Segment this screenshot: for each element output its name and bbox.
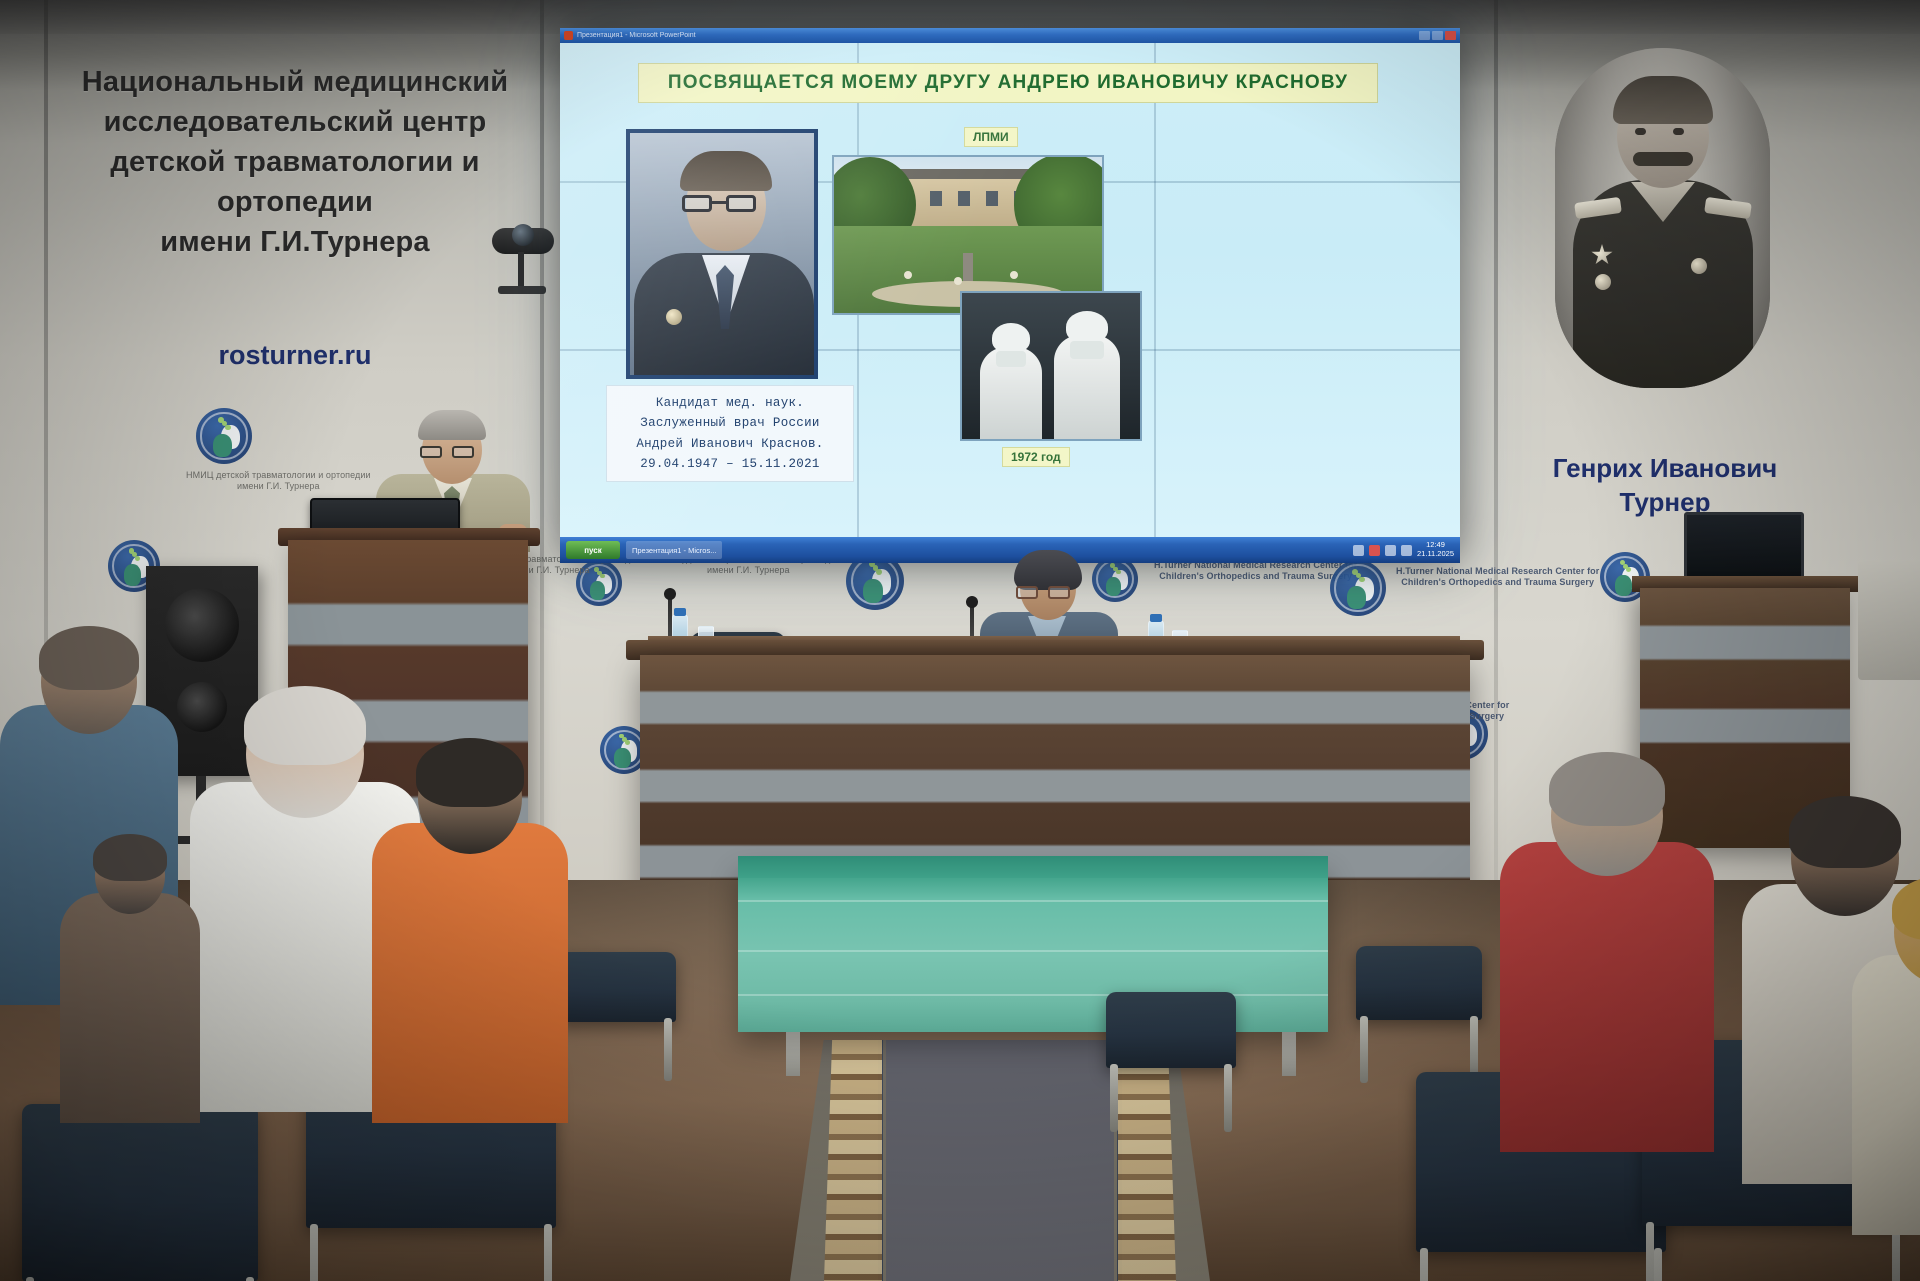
system-tray[interactable]: 12:49 21.11.2025 bbox=[1353, 541, 1454, 558]
photo-flowerbed bbox=[904, 271, 912, 279]
moderator-glasses bbox=[1048, 586, 1070, 599]
projection-screen[interactable]: Презентация1 - Microsoft PowerPoint ПОСВ… bbox=[560, 28, 1460, 563]
audience-member-torso bbox=[372, 823, 568, 1123]
logo-watermark-text: НМИЦ детской травматологии и ортопедииим… bbox=[186, 470, 371, 493]
draped-bench bbox=[738, 862, 1328, 1032]
caption-line-1: Кандидат мед. наук. bbox=[613, 393, 847, 413]
photo-surgical-cap bbox=[1066, 311, 1108, 343]
volume-icon[interactable] bbox=[1401, 545, 1412, 556]
logo-text-line-2: Children's Orthopedics and Trauma Surger… bbox=[1154, 571, 1357, 582]
drape-fold bbox=[738, 994, 1328, 996]
camera-mount-base bbox=[498, 286, 546, 294]
chair-leg bbox=[310, 1224, 318, 1281]
taskbar-clock[interactable]: 12:49 21.11.2025 bbox=[1417, 541, 1454, 558]
photo-window bbox=[958, 191, 970, 206]
clock-date: 21.11.2025 bbox=[1417, 549, 1454, 558]
carpet-field bbox=[886, 1040, 1114, 1281]
logo-sprout bbox=[1359, 577, 1365, 583]
network-icon[interactable] bbox=[1385, 545, 1396, 556]
caption-line-2: Заслуженный врач России bbox=[613, 413, 847, 433]
banner-line-2: исследовательский центр bbox=[60, 102, 530, 142]
slide-tag-lpmi: ЛПМИ bbox=[964, 127, 1018, 147]
audience-member-hair bbox=[416, 738, 524, 807]
photo-flowerbed bbox=[954, 277, 962, 285]
portrait-medal bbox=[1691, 258, 1707, 274]
bottle-cap bbox=[1150, 614, 1162, 622]
photo-lapel-badge bbox=[666, 309, 682, 325]
air-conditioner bbox=[1858, 560, 1920, 680]
presenter-hair bbox=[418, 410, 486, 440]
audience-member-hair bbox=[39, 626, 139, 690]
portrait-moustache bbox=[1633, 152, 1693, 166]
chair-leg bbox=[1224, 1064, 1232, 1132]
logo-watermark-text: H.Turner National Medical Research Cente… bbox=[1396, 566, 1599, 589]
presenter-glasses bbox=[420, 446, 442, 458]
portrait-eye bbox=[1673, 128, 1684, 135]
antivirus-icon[interactable] bbox=[1369, 545, 1380, 556]
photo-window bbox=[930, 191, 942, 206]
chair-leg bbox=[1654, 1248, 1662, 1281]
portrait-caption-line-1: Генрих Иванович bbox=[1520, 452, 1810, 486]
logo-green-hand bbox=[863, 579, 883, 603]
window-title-text: Презентация1 - Microsoft PowerPoint bbox=[577, 32, 696, 39]
center-name-banner: Национальный медицинский исследовательск… bbox=[60, 62, 530, 262]
caption-line-4: 29.04.1947 – 15.11.2021 bbox=[613, 454, 847, 474]
logo-green-hand bbox=[590, 581, 606, 600]
logo-sprout bbox=[625, 740, 630, 745]
banner-line-5: имени Г.И.Турнера bbox=[60, 222, 530, 262]
chair-leg bbox=[26, 1277, 34, 1281]
drape-fold bbox=[738, 950, 1328, 952]
audience-chair[interactable] bbox=[556, 952, 676, 1022]
audience-member-hair bbox=[1789, 796, 1901, 868]
slide-caption-block: Кандидат мед. наук. Заслуженный врач Рос… bbox=[606, 385, 854, 482]
logo-sprout bbox=[225, 425, 231, 431]
bench-leg bbox=[786, 1030, 800, 1076]
chair-leg bbox=[246, 1277, 254, 1281]
audience-member-torso bbox=[60, 893, 200, 1123]
photo-hair bbox=[680, 151, 772, 191]
audience-member-torso bbox=[1500, 842, 1714, 1152]
logo-green-hand bbox=[124, 564, 142, 586]
portrait-medal bbox=[1595, 274, 1611, 290]
photo-surgical-mask bbox=[1070, 341, 1104, 359]
audience-member bbox=[372, 742, 568, 1154]
krasnov-photo bbox=[626, 129, 818, 379]
audience-chair[interactable] bbox=[1356, 946, 1482, 1020]
drape-fold bbox=[738, 900, 1328, 902]
powerpoint-icon bbox=[564, 31, 573, 40]
bottle-cap bbox=[674, 608, 686, 616]
slide-canvas: ПОСВЯЩАЕТСЯ МОЕМУ ДРУГУ АНДРЕЮ ИВАНОВИЧУ… bbox=[560, 43, 1460, 537]
photo-glasses bbox=[682, 195, 712, 212]
caption-line-3: Андрей Иванович Краснов. bbox=[613, 434, 847, 454]
window-title-bar: Презентация1 - Microsoft PowerPoint bbox=[560, 28, 1460, 43]
portrait-medal bbox=[1555, 48, 1571, 64]
projector-tile-seam bbox=[1154, 43, 1156, 537]
moderator-hair bbox=[1014, 550, 1082, 590]
audience-member-hair bbox=[244, 686, 366, 765]
logo-text-line-2: имени Г.И. Турнера bbox=[656, 565, 841, 576]
taskbar-task-powerpoint[interactable]: Презентация1 - Micros... bbox=[626, 541, 722, 559]
website-url: rosturner.ru bbox=[60, 340, 530, 371]
chair-leg bbox=[664, 1018, 672, 1081]
photo-window bbox=[986, 191, 998, 206]
logo-green-hand bbox=[614, 748, 630, 768]
slide-title: ПОСВЯЩАЕТСЯ МОЕМУ ДРУГУ АНДРЕЮ ИВАНОВИЧУ… bbox=[638, 63, 1378, 103]
language-indicator-icon[interactable] bbox=[1353, 545, 1364, 556]
photo-surgical-mask bbox=[996, 351, 1026, 367]
close-icon[interactable] bbox=[1445, 31, 1456, 40]
audience-member bbox=[1500, 756, 1714, 1186]
logo-sprout bbox=[1626, 567, 1631, 572]
photo-glasses bbox=[726, 195, 756, 212]
presenter-glasses bbox=[452, 446, 474, 458]
carpet-border-pattern bbox=[1118, 1040, 1176, 1281]
banner-line-1: Национальный медицинский bbox=[60, 62, 530, 102]
carpet-runner bbox=[790, 1040, 1210, 1281]
start-button[interactable]: пуск bbox=[566, 541, 620, 559]
logo-green-hand bbox=[213, 434, 232, 458]
photo-surgical-cap bbox=[992, 323, 1030, 353]
center-logo-watermark bbox=[196, 408, 252, 464]
audience-member bbox=[60, 838, 200, 1144]
audience-member bbox=[1852, 880, 1920, 1264]
slide-tag-year: 1972 год bbox=[1002, 447, 1070, 467]
chair-leg bbox=[544, 1224, 552, 1281]
wall-seam bbox=[1494, 0, 1498, 880]
audience-member-hair bbox=[1549, 752, 1665, 826]
chair-leg bbox=[1360, 1016, 1368, 1083]
conference-hall-scene: Национальный медицинский исследовательск… bbox=[0, 0, 1920, 1281]
logo-sprout bbox=[135, 556, 140, 561]
turner-portrait bbox=[1555, 48, 1770, 388]
logo-text-line-2: имени Г.И. Турнера bbox=[186, 481, 371, 492]
logo-text-line-1: H.Turner National Medical Research Cente… bbox=[1396, 566, 1599, 577]
minimize-icon[interactable] bbox=[1419, 31, 1430, 40]
table-microphone-head[interactable] bbox=[966, 596, 978, 608]
photo-flowerbed bbox=[1010, 271, 1018, 279]
bench-top-cushion bbox=[738, 856, 1328, 878]
carpet-border-pattern bbox=[824, 1040, 882, 1281]
audience-member-hair bbox=[93, 834, 167, 881]
powerpoint-window[interactable]: Презентация1 - Microsoft PowerPoint ПОСВ… bbox=[560, 28, 1460, 563]
logo-green-hand bbox=[1347, 586, 1366, 610]
audience-member-torso bbox=[1852, 955, 1920, 1235]
bench-leg bbox=[1282, 1030, 1296, 1076]
center-logo-watermark bbox=[1330, 560, 1386, 616]
moderator-glasses bbox=[1016, 586, 1038, 599]
logo-green-hand bbox=[1615, 575, 1632, 596]
side-monitor[interactable] bbox=[1684, 512, 1804, 580]
portrait-eye bbox=[1635, 128, 1646, 135]
logo-watermark-text: H.Turner National Medical Research Cente… bbox=[1154, 560, 1357, 583]
camera-lens-icon bbox=[512, 224, 534, 246]
camera-mount-arm bbox=[518, 252, 524, 288]
banner-line-3: детской травматологии и bbox=[60, 142, 530, 182]
maximize-icon[interactable] bbox=[1432, 31, 1443, 40]
audience-chair[interactable] bbox=[1106, 992, 1236, 1068]
photo-glasses-bridge bbox=[712, 201, 726, 204]
surgery-1972-photo bbox=[960, 291, 1142, 441]
chair-leg bbox=[1646, 1222, 1654, 1281]
banner-line-4: ортопедии bbox=[60, 182, 530, 222]
logo-text-line-1: НМИЦ детской травматологии и ортопедии bbox=[186, 470, 371, 481]
chair-leg bbox=[1420, 1248, 1428, 1281]
turner-portrait-caption: Генрих Иванович Турнер bbox=[1520, 452, 1810, 520]
chair-leg bbox=[1110, 1064, 1118, 1132]
table-microphone-head[interactable] bbox=[664, 588, 676, 600]
logo-text-line-2: Children's Orthopedics and Trauma Surger… bbox=[1396, 577, 1599, 588]
window-controls[interactable] bbox=[1419, 31, 1456, 40]
